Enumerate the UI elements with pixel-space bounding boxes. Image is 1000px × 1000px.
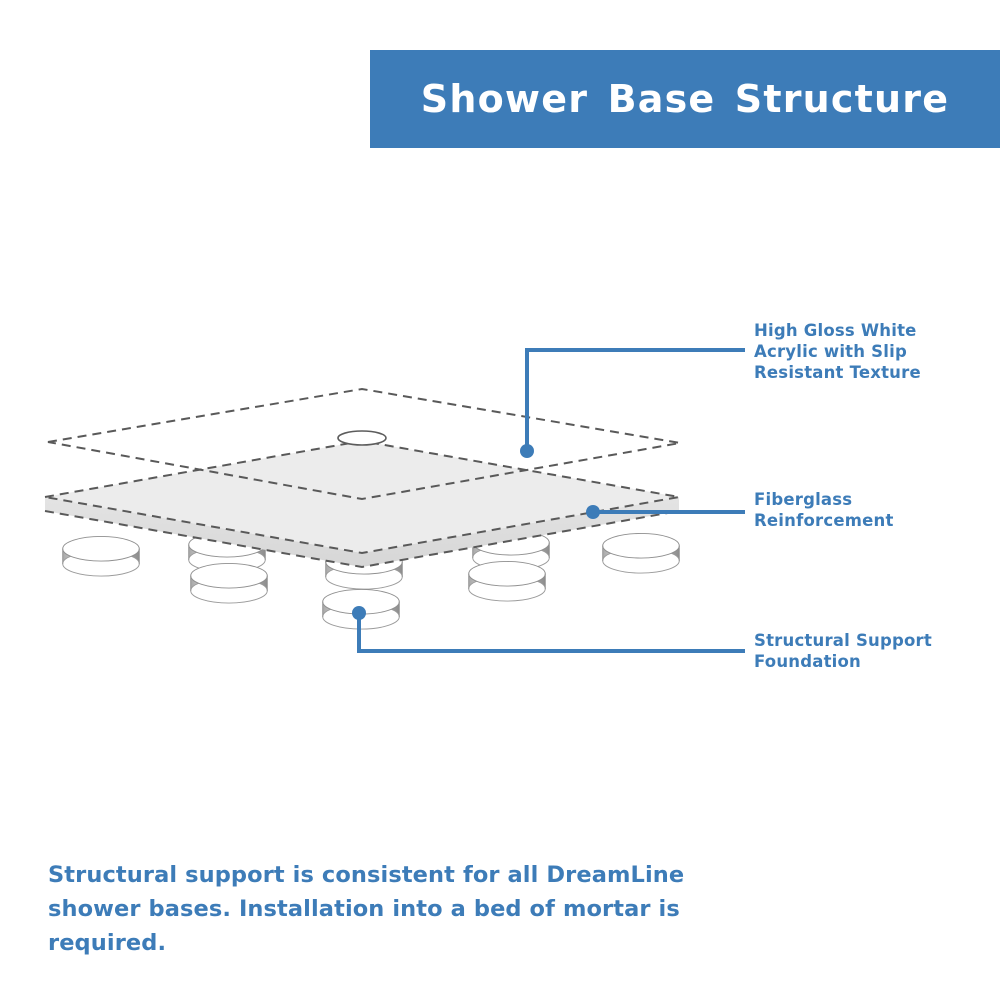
support-cylinder <box>469 561 546 601</box>
support-cylinder <box>63 536 140 576</box>
support-cylinder <box>603 533 680 573</box>
page-root: Shower Base Structure <box>0 0 1000 1000</box>
callout-acrylic-label: High Gloss White Acrylic with Slip Resis… <box>754 320 921 383</box>
leader-line-acrylic <box>520 350 745 458</box>
drain-opening <box>338 431 386 445</box>
support-cylinder <box>191 563 268 603</box>
leader-line-support <box>352 606 745 651</box>
callout-support-label: Structural Support Foundation <box>754 630 932 672</box>
footnote-text: Structural support is consistent for all… <box>48 858 728 960</box>
callout-fiberglass-label: Fiberglass Reinforcement <box>754 489 894 531</box>
